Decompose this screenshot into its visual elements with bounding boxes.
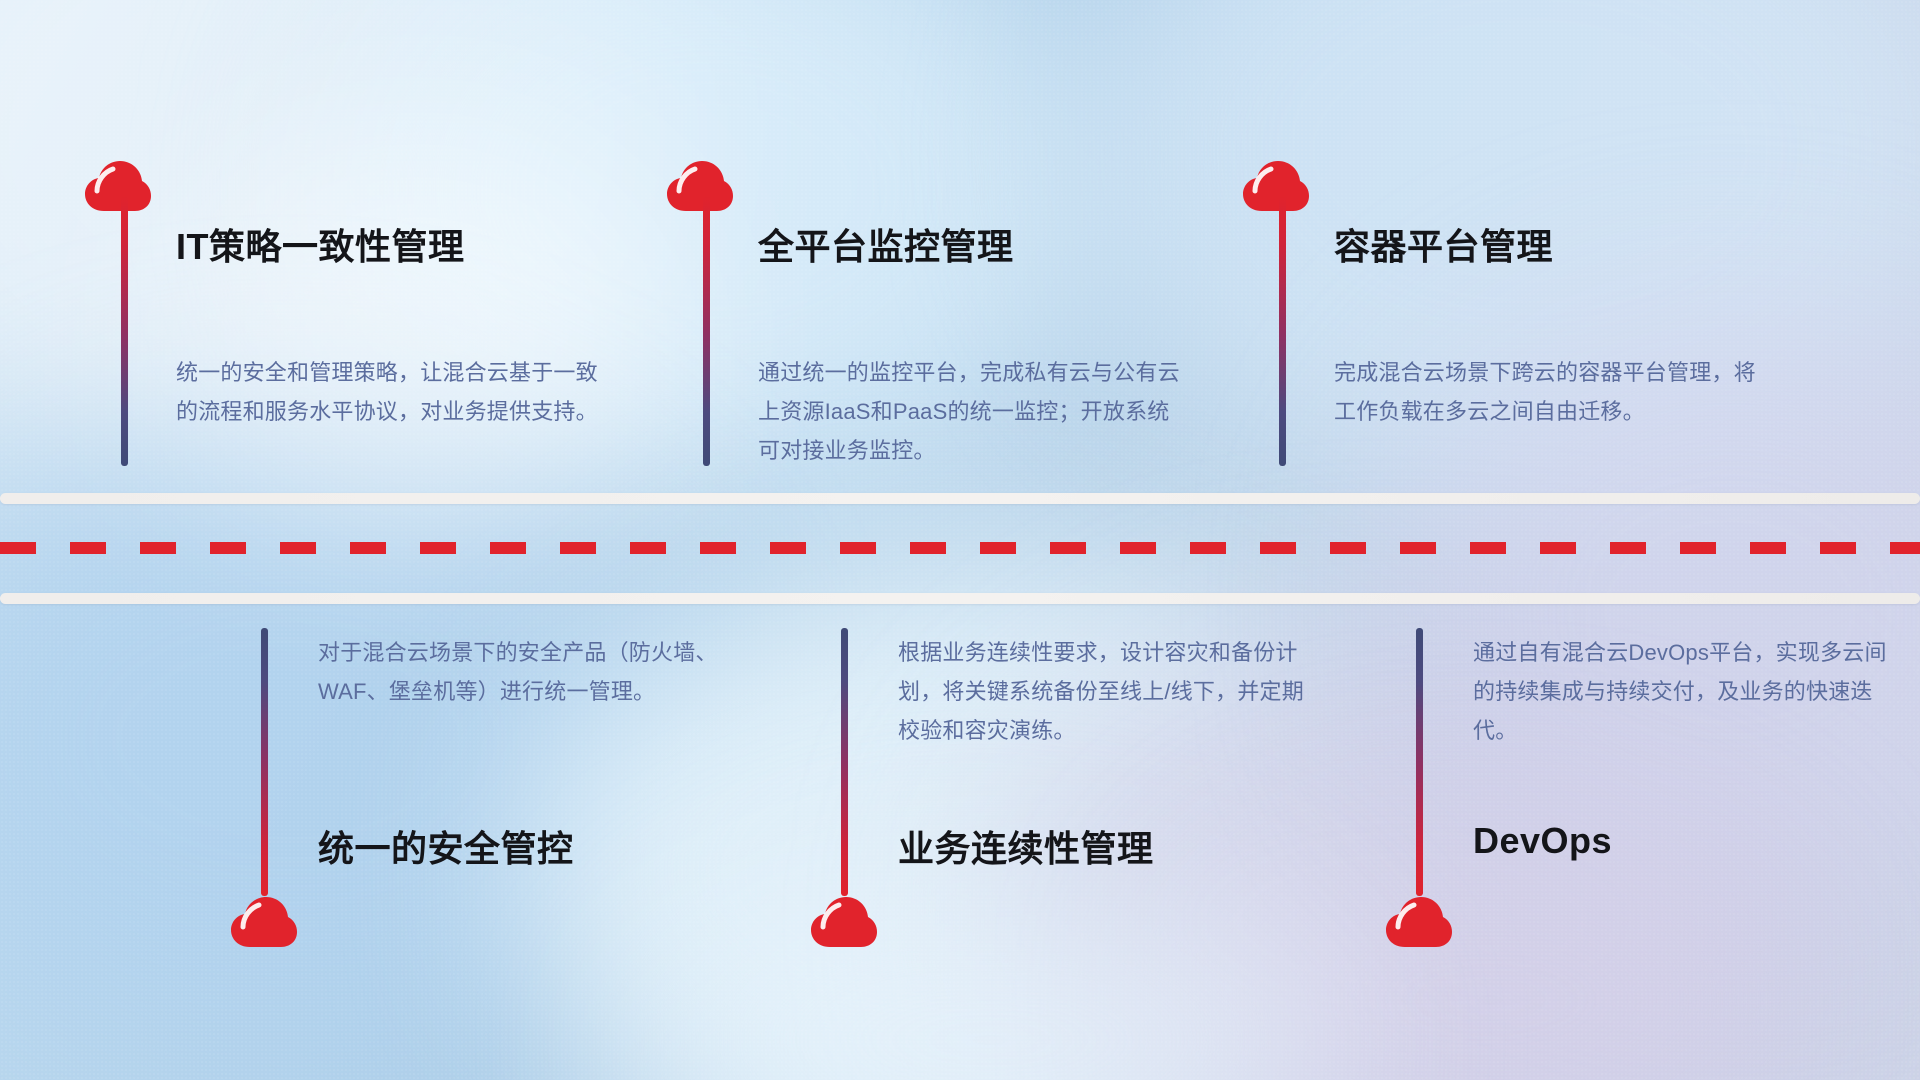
top-node-2-title: 全平台监控管理 — [758, 218, 1014, 270]
infographic-canvas: IT策略一致性管理 统一的安全和管理策略，让混合云基于一致的流程和服务水平协议，… — [0, 0, 1920, 1080]
hybrid-cloud-divider — [0, 490, 1920, 606]
bottom-node-1-title: 统一的安全管控 — [318, 820, 574, 872]
bottom-node-2-title: 业务连续性管理 — [898, 820, 1154, 872]
cloud-icon — [1242, 160, 1310, 212]
connector-line — [1416, 628, 1423, 896]
top-node-3-title: 容器平台管理 — [1334, 218, 1553, 270]
divider-dashed-line — [0, 542, 1920, 554]
connector-line — [841, 628, 848, 896]
divider-rule-top — [0, 493, 1920, 504]
connector-line — [703, 196, 710, 466]
cloud-icon — [666, 160, 734, 212]
bottom-node-1-description: 对于混合云场景下的安全产品（防火墙、WAF、堡垒机等）进行统一管理。 — [318, 633, 738, 711]
cloud-icon — [84, 160, 152, 212]
cloud-icon — [810, 896, 878, 948]
connector-line — [261, 628, 268, 896]
top-node-1-title: IT策略一致性管理 — [176, 218, 465, 270]
divider-rule-bottom — [0, 593, 1920, 604]
bottom-node-2-description: 根据业务连续性要求，设计容灾和备份计划，将关键系统备份至线上/线下，并定期校验和… — [898, 633, 1318, 750]
bottom-node-3-description: 通过自有混合云DevOps平台，实现多云间的持续集成与持续交付，及业务的快速迭代… — [1473, 633, 1893, 750]
top-node-1-description: 统一的安全和管理策略，让混合云基于一致的流程和服务水平协议，对业务提供支持。 — [176, 353, 606, 431]
cloud-icon — [1385, 896, 1453, 948]
bottom-node-3-title: DevOps — [1473, 820, 1612, 862]
top-node-2-description: 通过统一的监控平台，完成私有云与公有云上资源IaaS和PaaS的统一监控；开放系… — [758, 353, 1188, 470]
top-node-3-description: 完成混合云场景下跨云的容器平台管理，将工作负载在多云之间自由迁移。 — [1334, 353, 1764, 431]
connector-line — [121, 196, 128, 466]
connector-line — [1279, 196, 1286, 466]
cloud-icon — [230, 896, 298, 948]
